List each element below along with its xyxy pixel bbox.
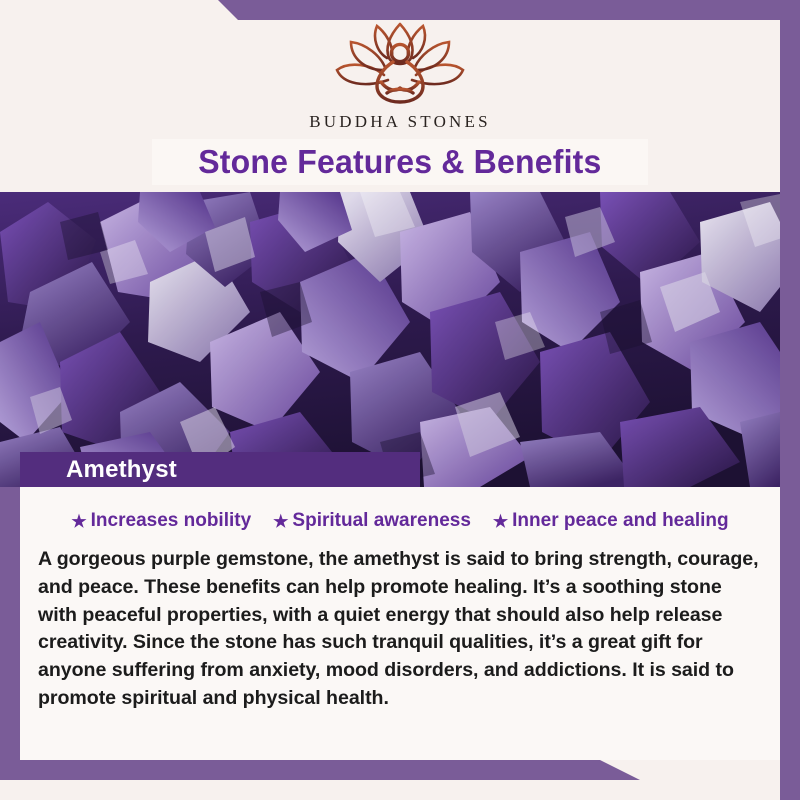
benefit-label: Increases nobility [91, 510, 252, 532]
decorative-frame-bottom [0, 760, 640, 780]
decorative-frame-left [0, 487, 20, 780]
brand-logo: BUDDHA STONES [0, 18, 800, 132]
benefit-item-2: ★ Spiritual awareness [273, 510, 471, 532]
lotus-meditating-buddha-icon [325, 18, 475, 110]
amethyst-crystal-cluster-photo [0, 192, 800, 487]
benefit-label: Spiritual awareness [292, 510, 470, 532]
page-title: Stone Features & Benefits [198, 143, 601, 181]
star-icon: ★ [273, 513, 288, 530]
section-title-band: Stone Features & Benefits [152, 139, 648, 185]
decorative-frame-right [780, 0, 800, 800]
star-icon: ★ [71, 513, 86, 530]
benefit-item-1: ★ Increases nobility [71, 510, 251, 532]
product-info-card: BUDDHA STONES Stone Features & Benefits [0, 0, 800, 800]
benefit-label: Inner peace and healing [512, 510, 728, 532]
stone-name: Amethyst [66, 456, 177, 484]
star-icon: ★ [493, 513, 508, 530]
brand-name: BUDDHA STONES [309, 112, 491, 132]
stone-name-banner: Amethyst [20, 452, 420, 488]
benefit-item-3: ★ Inner peace and healing [493, 510, 729, 532]
stone-description: A gorgeous purple gemstone, the amethyst… [38, 546, 762, 713]
stone-details-panel: ★ Increases nobility ★ Spiritual awarene… [20, 487, 780, 760]
benefits-list: ★ Increases nobility ★ Spiritual awarene… [20, 487, 780, 532]
